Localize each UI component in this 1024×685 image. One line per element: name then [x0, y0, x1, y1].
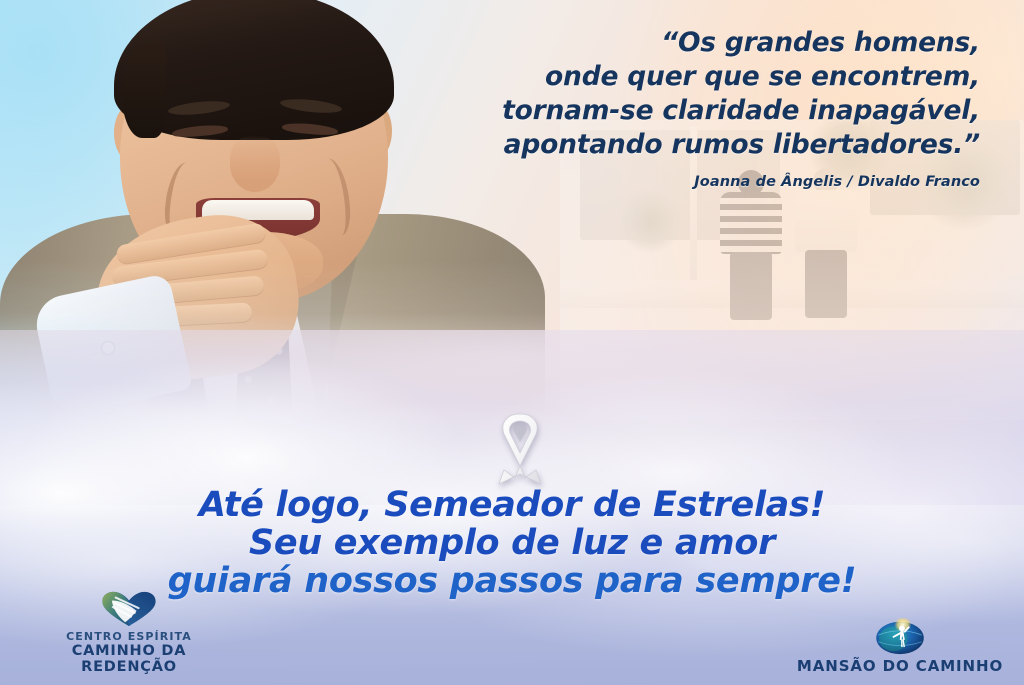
message-line-2: Seu exemplo de luz e amor [0, 524, 1024, 562]
logo-mansao-do-caminho[interactable]: MANSÃO DO CAMINHO [790, 618, 1010, 675]
palm-tree-icon [615, 190, 685, 260]
person-torso [720, 192, 782, 254]
scene-wall [560, 280, 1024, 308]
quote-line-3: tornam-se claridade inapagável, [420, 94, 980, 128]
quote-line-1: “Os grandes homens, [420, 26, 980, 60]
quote-line-4: apontando rumos libertadores.” [420, 128, 980, 162]
hair [114, 0, 394, 140]
logo-left-line-1: CENTRO ESPÍRITA [24, 630, 234, 643]
logo-right-line-1: MANSÃO DO CAMINHO [790, 658, 1010, 675]
person-torso [795, 190, 857, 252]
quote-attribution: Joanna de Ângelis / Divaldo Franco [420, 174, 980, 190]
nose [230, 136, 280, 192]
scene-person-white-shirt [795, 168, 857, 318]
quote-line-2: onde quer que se encontrem, [420, 60, 980, 94]
farewell-message: Até logo, Semeador de Estrelas! Seu exem… [0, 486, 1024, 600]
scene-person-striped-shirt [720, 170, 782, 320]
quote-block: “Os grandes homens, onde quer que se enc… [420, 26, 980, 190]
hands-heart-icon [24, 590, 234, 628]
memorial-poster: “Os grandes homens, onde quer que se enc… [0, 0, 1024, 685]
white-awareness-ribbon-icon [487, 408, 553, 492]
message-line-1: Até logo, Semeador de Estrelas! [0, 486, 1024, 524]
logo-centro-espirita-caminho-da-redencao[interactable]: CENTRO ESPÍRITA CAMINHO DA REDENÇÃO [24, 590, 234, 675]
globe-figure-icon [790, 618, 1010, 656]
person-legs [805, 250, 847, 318]
person-legs [730, 252, 772, 320]
logo-left-line-2: CAMINHO DA REDENÇÃO [24, 643, 234, 675]
